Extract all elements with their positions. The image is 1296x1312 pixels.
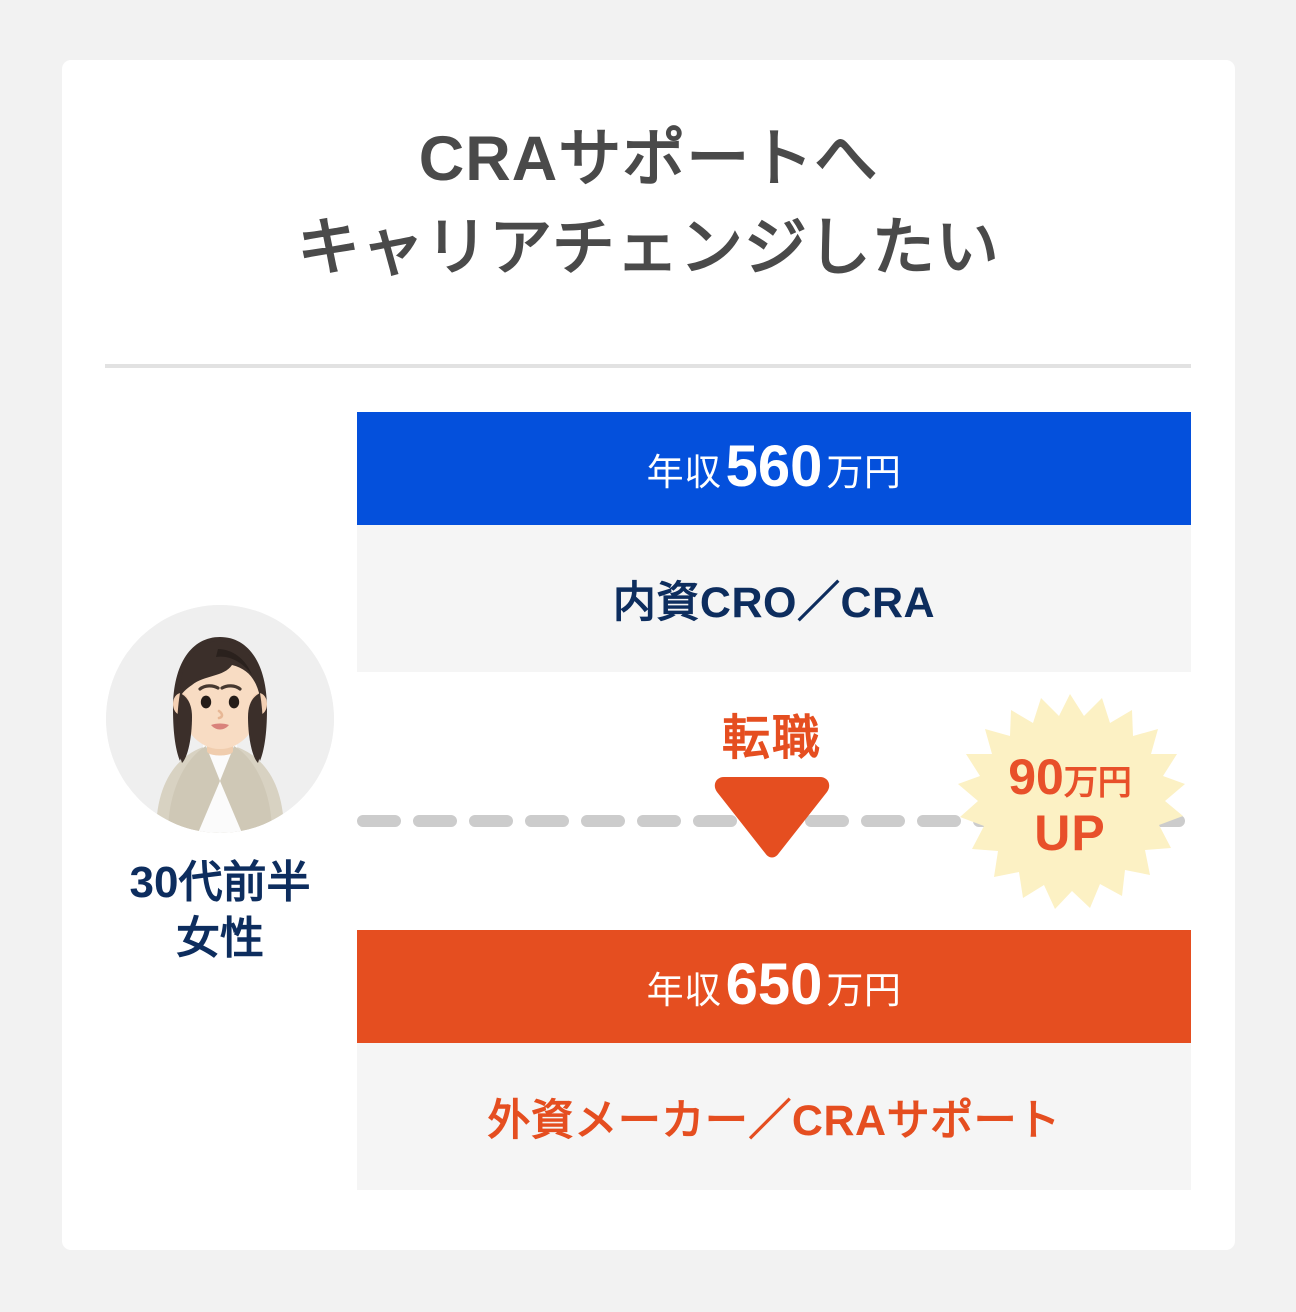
title-divider xyxy=(105,364,1191,368)
before-salary-prefix: 年収 xyxy=(647,442,722,496)
after-salary-bar: 年収 650 万円 xyxy=(357,930,1191,1043)
transition-group: 転職 xyxy=(672,715,872,859)
person-label: 30代前半 女性 xyxy=(84,855,356,968)
before-company-panel: 内資CRO／CRA xyxy=(357,525,1191,672)
transition-label: 転職 xyxy=(672,715,872,763)
person-age-label: 30代前半 xyxy=(84,855,356,911)
salary-up-badge: 90 万円 UP xyxy=(955,690,1185,920)
after-company-label: 外資メーカー／CRAサポート xyxy=(487,1086,1060,1148)
woman-avatar-icon xyxy=(106,605,334,833)
after-salary-amount: 650 xyxy=(722,951,827,1018)
badge-suffix: UP xyxy=(1034,808,1105,858)
before-job-block: 年収 560 万円 内資CRO／CRA xyxy=(357,412,1191,672)
before-salary-bar: 年収 560 万円 xyxy=(357,412,1191,525)
page-title: CRAサポートへ キャリアチェンジしたい xyxy=(62,115,1235,294)
after-salary-unit: 万円 xyxy=(826,960,901,1014)
badge-unit: 万円 xyxy=(1064,766,1132,800)
before-salary-amount: 560 xyxy=(722,433,827,500)
avatar xyxy=(106,605,334,833)
before-company-label: 内資CRO／CRA xyxy=(613,568,935,630)
page-title-line-2: キャリアチェンジしたい xyxy=(62,204,1235,293)
person-profile: 30代前半 女性 xyxy=(84,605,356,968)
badge-amount: 90 xyxy=(1008,752,1064,802)
after-company-panel: 外資メーカー／CRAサポート xyxy=(357,1043,1191,1190)
before-salary-unit: 万円 xyxy=(826,442,901,496)
case-study-card: CRAサポートへ キャリアチェンジしたい xyxy=(62,60,1235,1250)
page-title-line-1: CRAサポートへ xyxy=(62,115,1235,204)
after-salary-prefix: 年収 xyxy=(647,960,722,1014)
after-job-block: 年収 650 万円 外資メーカー／CRAサポート xyxy=(357,930,1191,1190)
down-triangle-icon xyxy=(712,773,832,859)
salary-up-badge-text: 90 万円 UP xyxy=(955,690,1185,920)
person-gender-label: 女性 xyxy=(84,911,356,967)
